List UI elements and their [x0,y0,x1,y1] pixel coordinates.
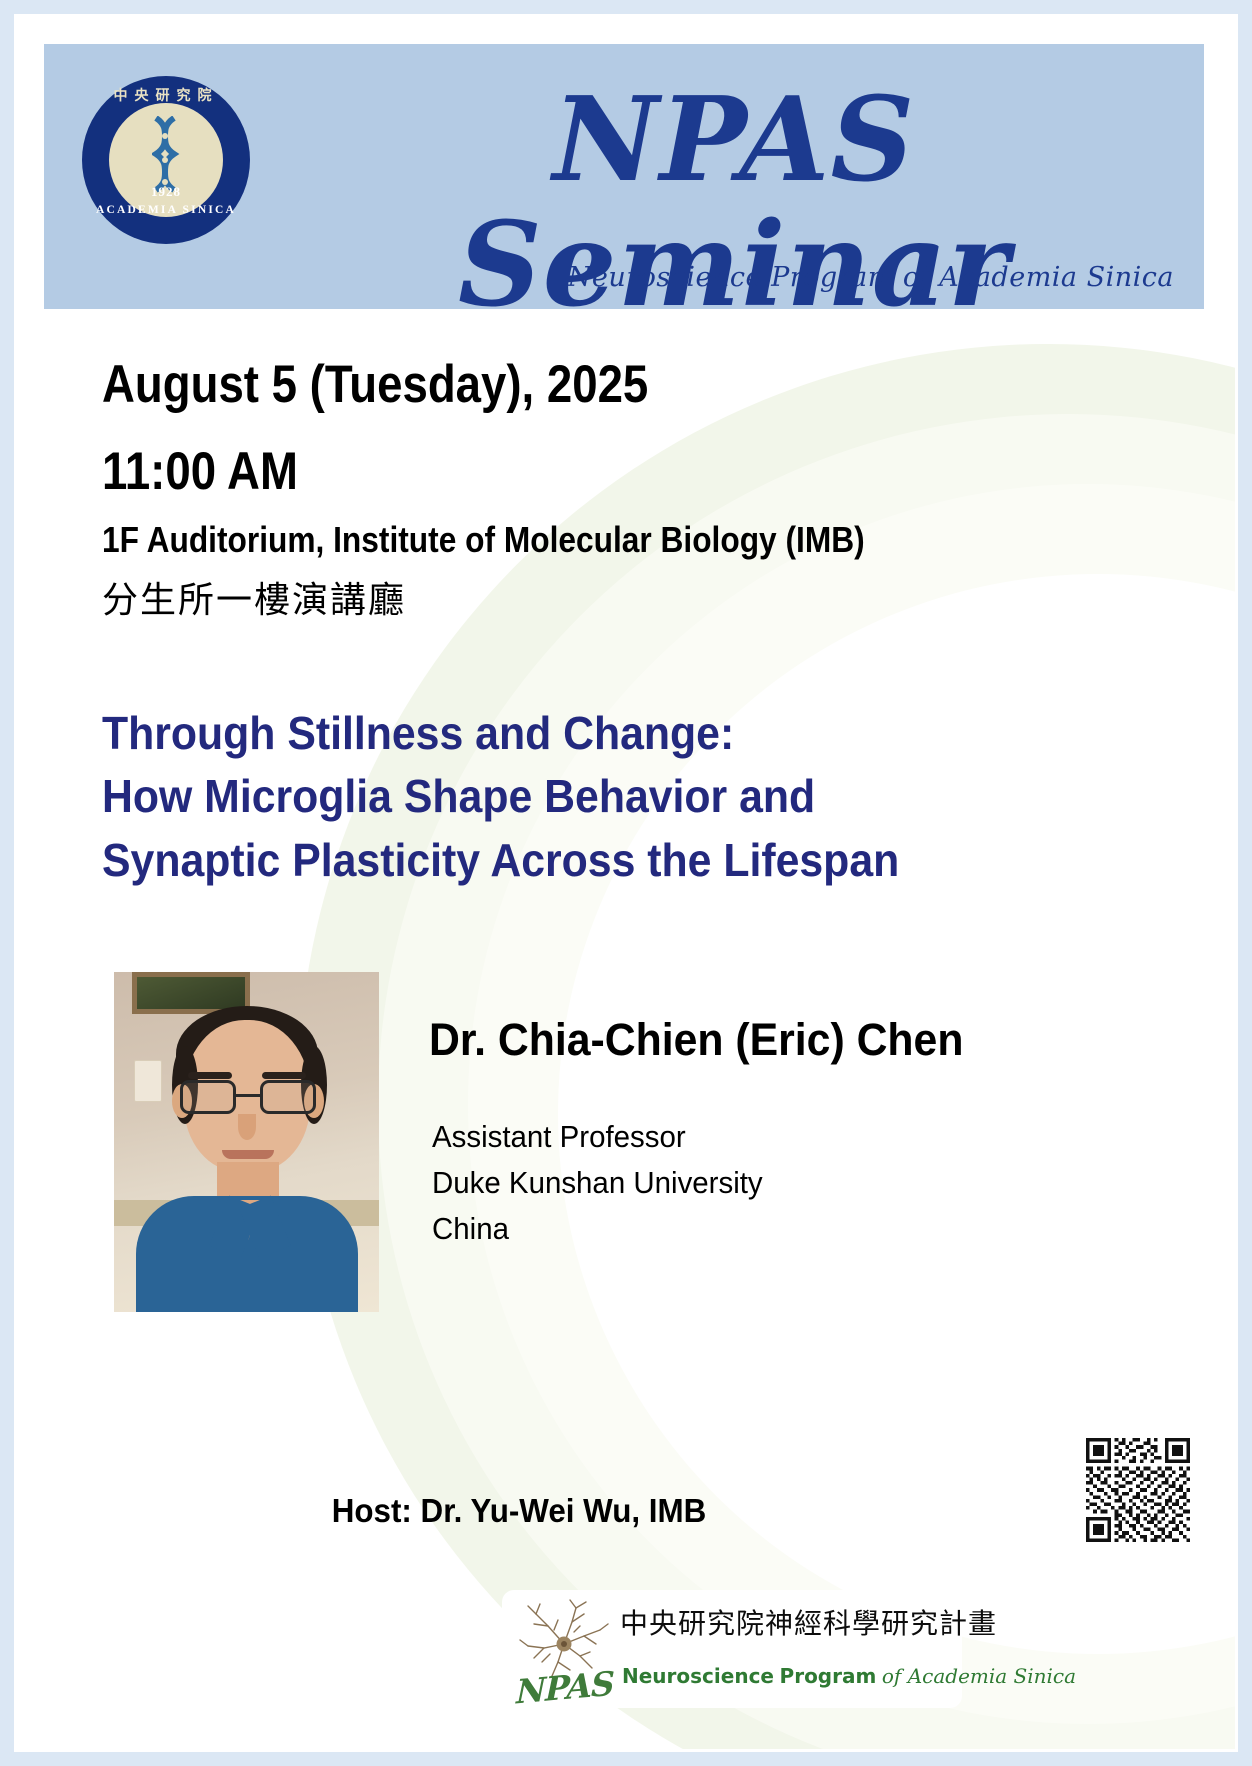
qr-code[interactable] [1086,1438,1190,1542]
npas-footer-logo: NPAS 中央研究院神經科學研究計畫 Neuroscience Program … [502,1590,962,1708]
event-venue-english: 1F Auditorium, Institute of Molecular Bi… [102,519,865,561]
wall-light-switch [134,1060,162,1102]
speaker-name: Dr. Chia-Chien (Eric) Chen [429,1014,963,1066]
event-venue-chinese: 分生所一樓演講廳 [102,571,406,623]
eyeglasses-icon [180,1080,316,1114]
speaker-affiliation: Assistant ProfessorDuke Kunshan Universi… [432,1114,763,1252]
event-date: August 5 (Tuesday), 2025 [102,354,648,415]
talk-title: Through Stillness and Change:How Microgl… [102,702,1088,892]
host-line: Host: Dr. Yu-Wei Wu, IMB [39,1492,999,1530]
footer-logo-chinese: 中央研究院神經科學研究計畫 [620,1602,997,1642]
seminar-poster: 中央研究院 1928 ACADEMIA SINICA NPAS Seminar … [0,0,1252,1766]
event-time: 11:00 AM [102,441,298,502]
footer-logo-en-suffix: of Academia Sinica [882,1664,1076,1688]
footer-logo-en-word2: Program [780,1664,877,1688]
speaker-photo [114,972,379,1312]
npas-wordmark: NPAS [516,1664,614,1712]
poster-body: August 5 (Tuesday), 2025 11:00 AM 1F Aud… [14,14,1252,1766]
footer-logo-en-word1: Neuroscience [622,1664,774,1688]
footer-logo-english: Neuroscience Program of Academia Sinica [622,1664,1076,1689]
